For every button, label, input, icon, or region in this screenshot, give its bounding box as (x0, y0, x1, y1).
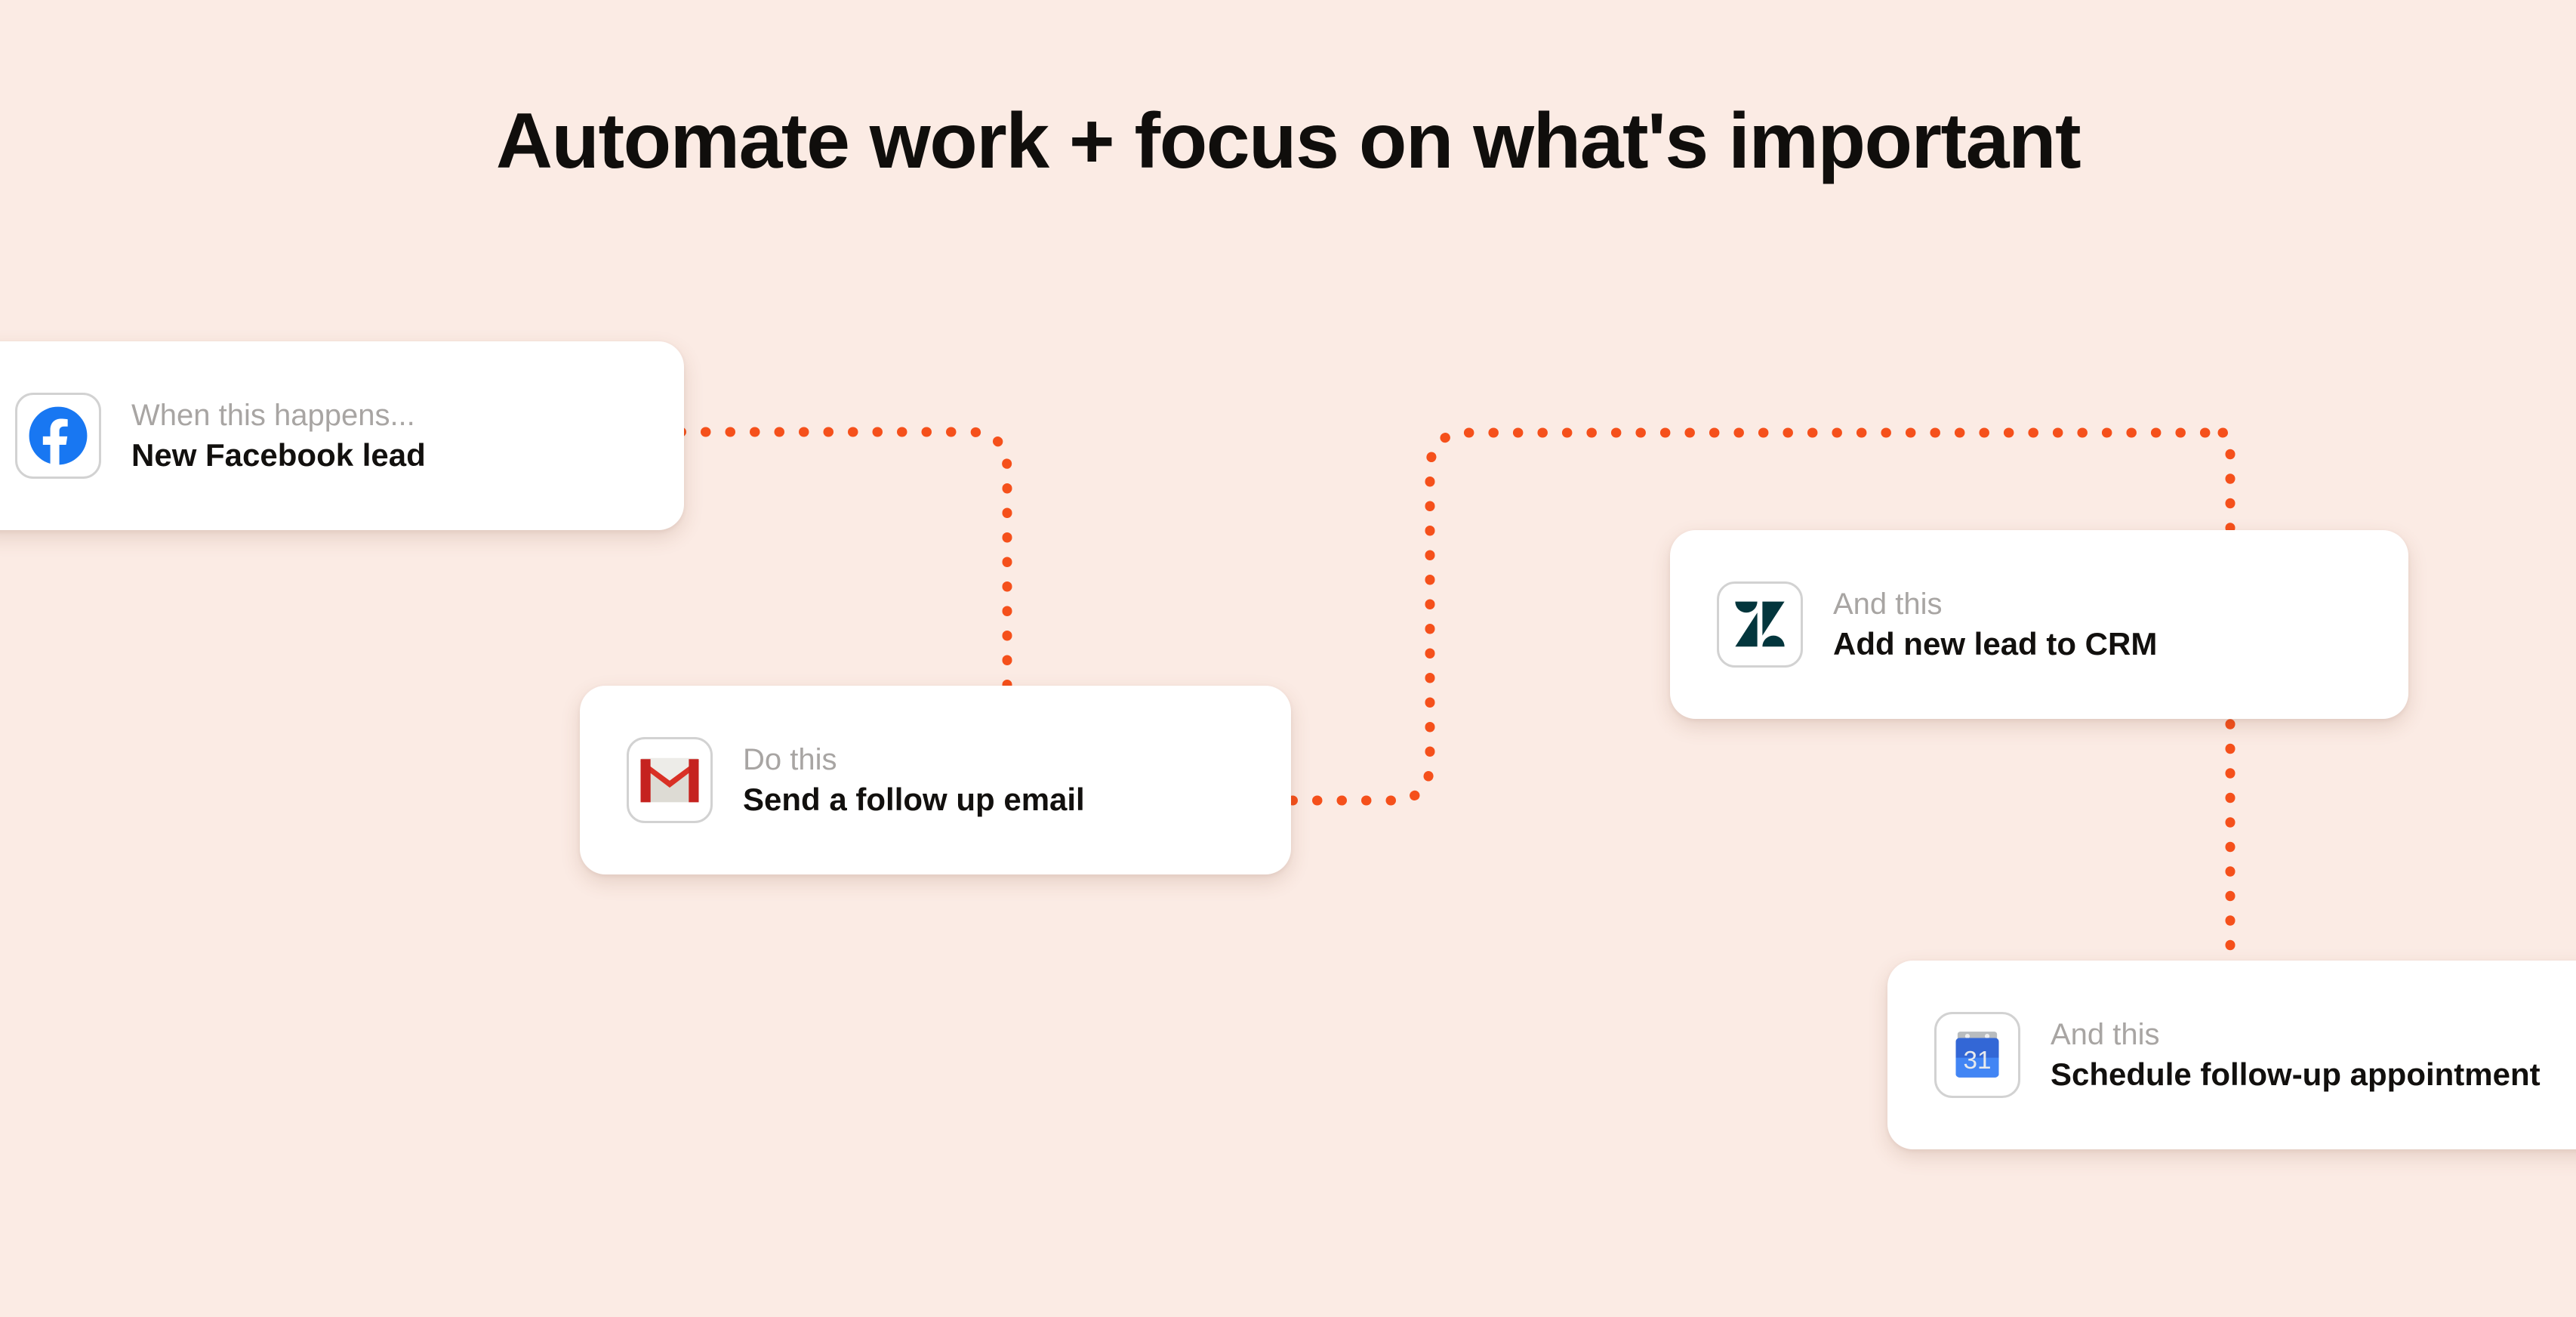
google-calendar-icon: 31 (1949, 1026, 2006, 1084)
card-content: 31 And this Schedule follow-up appointme… (1934, 1012, 2541, 1098)
automation-flow-diagram: Automate work + focus on what's importan… (0, 0, 2576, 1317)
card-title: Schedule follow-up appointment (2051, 1055, 2541, 1095)
card-title: Add new lead to CRM (1833, 625, 2157, 665)
card-text: When this happens... New Facebook lead (131, 396, 426, 476)
action-card-gmail[interactable]: Do this Send a follow up email (580, 686, 1291, 874)
card-title: Send a follow up email (743, 780, 1085, 820)
trigger-card-facebook[interactable]: When this happens... New Facebook lead (0, 341, 684, 530)
facebook-icon (27, 405, 89, 467)
card-text: And this Schedule follow-up appointment (2051, 1016, 2541, 1095)
calendar-day-number: 31 (1964, 1047, 1992, 1075)
app-icon-tile (1717, 581, 1803, 668)
card-title: New Facebook lead (131, 436, 426, 476)
app-icon-tile: 31 (1934, 1012, 2020, 1098)
card-eyebrow: And this (2051, 1016, 2541, 1053)
connector-facebook-to-gmail (681, 432, 1007, 695)
card-eyebrow: When this happens... (131, 396, 426, 434)
gmail-icon (639, 757, 700, 803)
app-icon-tile (15, 393, 101, 479)
card-text: Do this Send a follow up email (743, 741, 1085, 820)
zendesk-icon (1733, 597, 1787, 652)
page-title: Automate work + focus on what's importan… (0, 98, 2576, 184)
action-card-crm[interactable]: And this Add new lead to CRM (1670, 530, 2408, 719)
card-eyebrow: Do this (743, 741, 1085, 779)
card-text: And this Add new lead to CRM (1833, 585, 2157, 665)
card-content: And this Add new lead to CRM (1717, 581, 2157, 668)
card-content: Do this Send a follow up email (627, 737, 1085, 823)
card-eyebrow: And this (1833, 585, 2157, 623)
app-icon-tile (627, 737, 713, 823)
action-card-calendar[interactable]: 31 And this Schedule follow-up appointme… (1887, 961, 2576, 1149)
card-content: When this happens... New Facebook lead (15, 393, 426, 479)
